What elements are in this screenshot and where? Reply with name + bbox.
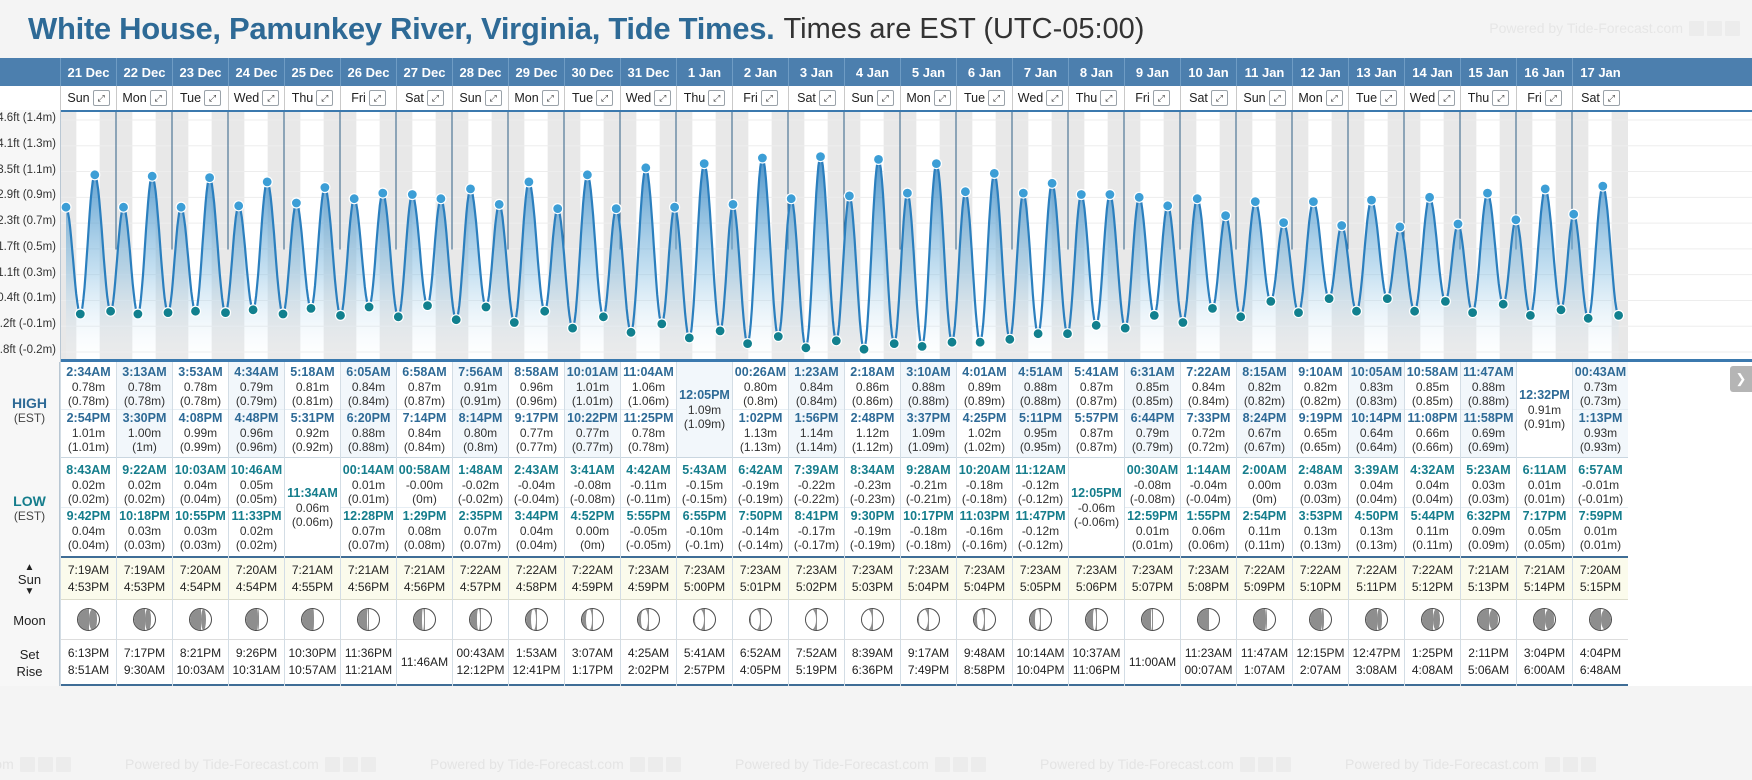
tide-time: 9:17PM: [509, 411, 564, 426]
moonrise-time: 8:58PM: [964, 662, 1005, 679]
day-column-19: 6:31AM0.85m(0.85m)6:44PM0.79m(0.79m)00:3…: [1124, 362, 1180, 686]
tide-time: 1:48AM: [453, 463, 508, 478]
expand-day-icon[interactable]: ⤢: [1269, 90, 1286, 106]
wave-icon: [935, 757, 950, 772]
tide-height-alt: (0.03m): [173, 538, 228, 552]
moonrise-time: 00:07AM: [1184, 662, 1232, 679]
powered-by-text: Powered by Tide-Forecast.com: [1489, 20, 1683, 36]
expand-day-icon[interactable]: ⤢: [988, 90, 1005, 106]
tide-time: 7:33PM: [1181, 411, 1236, 426]
moon-cell: [677, 600, 732, 640]
day-header-16: Tue⤢: [956, 86, 1012, 110]
tide-event: 12:05PM1.09m(1.09m): [677, 362, 732, 457]
tide-height-alt: (-0.04m): [1181, 492, 1236, 506]
tide-height-alt: (0.08m): [397, 538, 452, 552]
wave-icon: [1689, 21, 1704, 36]
moonrise-time: 11:46AM: [401, 654, 448, 671]
moon-cell: [1181, 600, 1236, 640]
low-tide-cell: 12:05PM-0.06m(-0.06m): [1069, 458, 1124, 558]
day-column-16: 4:01AM0.89m(0.89m)4:25PM1.02m(1.02m)10:2…: [956, 362, 1012, 686]
sun-cell: 7:23AM4:59PM: [621, 558, 676, 600]
date-header-24[interactable]: 14 Jan: [1404, 58, 1460, 86]
moonset-time: 11:36PM: [345, 645, 392, 662]
expand-day-icon[interactable]: ⤢: [1603, 90, 1620, 106]
moon-cell: [1573, 600, 1628, 640]
tide-time: 4:08PM: [173, 411, 228, 426]
refresh-icon: [1258, 757, 1273, 772]
moonrise-time: 6:36PM: [852, 662, 893, 679]
tide-event: 00:58AM-0.00m(0m): [397, 462, 452, 507]
moon-phase-icon: [1589, 608, 1612, 631]
tide-time: 4:51AM: [1013, 365, 1068, 380]
tide-height-alt: (0.67m): [1237, 440, 1292, 454]
moonset-time: 8:21PM: [180, 645, 221, 662]
day-name-label: Sun: [459, 91, 481, 105]
tide-curve-plot[interactable]: [60, 110, 1752, 362]
tide-event: 6:05AM0.84m(0.84m): [341, 364, 396, 409]
expand-day-icon[interactable]: ⤢: [542, 90, 559, 106]
tide-event: 2:00AM0.00m(0m): [1237, 462, 1292, 507]
page-title: White House, Pamunkey River, Virginia, T…: [28, 11, 774, 47]
moon-phase-icon: [245, 608, 268, 631]
day-header-15: Mon⤢: [900, 86, 956, 110]
date-header-1[interactable]: 22 Dec: [116, 58, 172, 86]
tide-height: 0.08m: [397, 524, 452, 538]
sun-cell: 7:21AM4:55PM: [285, 558, 340, 600]
moonrise-time: 4:05PM: [740, 662, 781, 679]
expand-day-icon[interactable]: ⤢: [262, 90, 279, 106]
moonrise-time: 2:02PM: [628, 662, 669, 679]
tide-event: 6:31AM0.85m(0.85m): [1125, 364, 1180, 409]
moon-cell: [1349, 600, 1404, 640]
sunrise-time: 7:23AM: [684, 562, 725, 579]
tide-height: 0.93m: [1573, 426, 1628, 440]
sun-cell: 7:23AM5:02PM: [789, 558, 844, 600]
tide-event: 10:20AM-0.18m(-0.18m): [957, 462, 1012, 507]
tide-height-alt: (0.79m): [1125, 440, 1180, 454]
moon-cell: [1013, 600, 1068, 640]
day-name-label: Mon: [1298, 91, 1322, 105]
tide-height-alt: (0.85m): [1125, 394, 1180, 408]
high-tide-cell: 2:18AM0.86m(0.86m)2:48PM1.12m(1.12m): [845, 362, 900, 458]
date-header-13[interactable]: 3 Jan: [788, 58, 844, 86]
expand-day-icon[interactable]: ⤢: [654, 90, 671, 106]
tide-height: 0.83m: [1349, 380, 1404, 394]
expand-day-icon[interactable]: ⤢: [485, 90, 502, 106]
day-header-21: Sun⤢: [1236, 86, 1292, 110]
tide-height: 0.13m: [1349, 524, 1404, 538]
tide-height: 0.01m: [1125, 524, 1180, 538]
day-name-label: Fri: [351, 91, 366, 105]
tide-event: 1:56PM1.14m(1.14m): [789, 409, 844, 455]
moon-phase-icon: [1365, 608, 1388, 631]
date-header-16[interactable]: 6 Jan: [956, 58, 1012, 86]
day-column-13: 1:23AM0.84m(0.84m)1:56PM1.14m(1.14m)7:39…: [788, 362, 844, 686]
tide-height: 0.87m: [1069, 426, 1124, 440]
date-header-10[interactable]: 31 Dec: [620, 58, 676, 86]
tide-height-alt: (-0.12m): [1013, 492, 1068, 506]
tide-event: 1:55PM0.06m(0.06m): [1181, 507, 1236, 553]
tide-time: 11:04AM: [621, 365, 676, 380]
tide-height: -0.16m: [957, 524, 1012, 538]
tide-time: 7:50PM: [733, 509, 788, 524]
expand-day-icon[interactable]: ⤢: [369, 90, 386, 106]
tide-event: 4:08PM0.99m(0.99m): [173, 409, 228, 455]
sunrise-time: 7:21AM: [348, 562, 389, 579]
sunrise-time: 7:22AM: [516, 562, 557, 579]
sunrise-time: 7:22AM: [1412, 562, 1453, 579]
tide-event: 2:54PM1.01m(1.01m): [61, 409, 116, 455]
moonset-time: 00:43AM: [456, 645, 504, 662]
date-header-25[interactable]: 15 Jan: [1460, 58, 1516, 86]
moonset-time: 11:23AM: [1185, 645, 1232, 662]
date-header-20[interactable]: 10 Jan: [1180, 58, 1236, 86]
sun-cell: 7:21AM4:56PM: [397, 558, 452, 600]
tide-time: 5:55PM: [621, 509, 676, 524]
tide-height: 0.11m: [1405, 524, 1460, 538]
moon-cell: [565, 600, 620, 640]
date-header-18[interactable]: 8 Jan: [1068, 58, 1124, 86]
y-axis-tick-8: -0.2ft (-0.1m): [0, 318, 56, 330]
moonset-label: Set: [20, 646, 40, 663]
tide-event: 4:48PM0.96m(0.96m): [229, 409, 284, 455]
moonset-time: 12:47PM: [1352, 645, 1400, 662]
moonset-time: 10:30PM: [288, 645, 336, 662]
tide-height-alt: (0.09m): [1461, 538, 1516, 552]
tide-height: 0.87m: [397, 380, 452, 394]
tide-time: 1:55PM: [1181, 509, 1236, 524]
date-header-23[interactable]: 13 Jan: [1348, 58, 1404, 86]
tide-height-alt: (0.84m): [341, 394, 396, 408]
tide-height-alt: (0.01m): [1573, 538, 1628, 552]
moonset-time: 12:15PM: [1296, 645, 1344, 662]
tide-height: 0.66m: [1405, 426, 1460, 440]
expand-day-icon[interactable]: ⤢: [596, 90, 613, 106]
expand-day-icon[interactable]: ⤢: [427, 90, 444, 106]
moon-phase-icon: [1253, 608, 1276, 631]
tide-height-alt: (-0.1m): [677, 538, 732, 552]
expand-day-icon[interactable]: ⤢: [93, 90, 110, 106]
date-header-6[interactable]: 27 Dec: [396, 58, 452, 86]
expand-day-icon[interactable]: ⤢: [1100, 90, 1117, 106]
day-header-22: Mon⤢: [1292, 86, 1348, 110]
sunset-time: 4:56PM: [404, 579, 445, 596]
expand-day-icon[interactable]: ⤢: [819, 90, 836, 106]
wave-icon: [20, 757, 35, 772]
moon-setrise-cell: 11:36PM11:21AM: [341, 640, 396, 686]
expand-day-icon[interactable]: ⤢: [1438, 90, 1455, 106]
moon-setrise-cell: 9:17AM7:49PM: [901, 640, 956, 686]
tide-height: -0.08m: [1125, 478, 1180, 492]
sunrise-time: 7:21AM: [292, 562, 333, 579]
expand-day-icon[interactable]: ⤢: [204, 90, 221, 106]
tide-height: 0.84m: [1181, 380, 1236, 394]
date-header-26[interactable]: 16 Jan: [1516, 58, 1572, 86]
tide-time: 8:15AM: [1237, 365, 1292, 380]
moon-phase-icon: [749, 608, 772, 631]
tide-time: 10:58AM: [1405, 365, 1460, 380]
tide-event: 3:41AM-0.08m(-0.08m): [565, 462, 620, 507]
date-header-2[interactable]: 23 Dec: [172, 58, 228, 86]
tide-event: 11:03PM-0.16m(-0.16m): [957, 507, 1012, 553]
tide-time: 11:34AM: [285, 486, 340, 501]
date-header-row: 21 Dec22 Dec23 Dec24 Dec25 Dec26 Dec27 D…: [0, 58, 1752, 86]
moonrise-time: 10:57AM: [288, 662, 336, 679]
tide-time: 5:23AM: [1461, 463, 1516, 478]
sunrise-time: 7:23AM: [1020, 562, 1061, 579]
day-name-label: Thu: [684, 91, 706, 105]
tide-time: 11:25PM: [621, 411, 676, 426]
tide-time: 11:58PM: [1461, 411, 1516, 426]
low-tide-cell: 1:14AM-0.04m(-0.04m)1:55PM0.06m(0.06m): [1181, 458, 1236, 558]
tide-height: -0.21m: [901, 478, 956, 492]
moonset-time: 5:41AM: [684, 645, 725, 662]
tide-time: 1:29PM: [397, 509, 452, 524]
tide-height: -0.12m: [1013, 524, 1068, 538]
sunrise-time: 7:23AM: [1132, 562, 1173, 579]
tide-height-alt: (1.01m): [61, 440, 116, 454]
tide-event: 7:17PM0.05m(0.05m): [1517, 507, 1572, 553]
footer-watermark-text: Powered by Tide-Forecast.com: [125, 756, 319, 772]
day-name-label: Fri: [743, 91, 758, 105]
tide-height: 0.03m: [1461, 478, 1516, 492]
tide-height-alt: (0.85m): [1405, 394, 1460, 408]
tide-height-alt: (0.84m): [397, 440, 452, 454]
tide-height-alt: (0.07m): [453, 538, 508, 552]
moonrise-time: 12:41PM: [512, 662, 560, 679]
tide-height: 0.03m: [173, 524, 228, 538]
tide-event: 2:34AM0.78m(0.78m): [61, 364, 116, 409]
tide-time: 10:03AM: [173, 463, 228, 478]
moon-phase-icon: [1085, 608, 1108, 631]
date-header-3[interactable]: 24 Dec: [228, 58, 284, 86]
tide-height: -0.10m: [677, 524, 732, 538]
date-header-12[interactable]: 2 Jan: [732, 58, 788, 86]
tide-height: 0.80m: [453, 426, 508, 440]
tide-time: 8:24PM: [1237, 411, 1292, 426]
expand-day-icon[interactable]: ⤢: [1211, 90, 1228, 106]
tide-event: 00:43AM0.73m(0.73m): [1573, 364, 1628, 409]
tide-height-alt: (1.13m): [733, 440, 788, 454]
tide-event: 5:55PM-0.05m(-0.05m): [621, 507, 676, 553]
tide-height-alt: (-0.15m): [677, 492, 732, 506]
tide-event: 5:57PM0.87m(0.87m): [1069, 409, 1124, 455]
tide-event: 9:10AM0.82m(0.82m): [1293, 364, 1348, 409]
tide-height-alt: (0.06m): [285, 515, 340, 529]
tide-height: -0.22m: [789, 478, 844, 492]
refresh-icon: [1563, 757, 1578, 772]
high-tide-cell: 2:34AM0.78m(0.78m)2:54PM1.01m(1.01m): [61, 362, 116, 458]
day-header-4: Thu⤢: [284, 86, 340, 110]
tide-chart-page: White House, Pamunkey River, Virginia, T…: [0, 0, 1752, 780]
tide-event: 3:37PM1.09m(1.09m): [901, 409, 956, 455]
day-name-label: Tue: [964, 91, 985, 105]
low-tide-cell: 2:48AM0.03m(0.03m)3:53PM0.13m(0.13m): [1293, 458, 1348, 558]
day-name-label: Tue: [180, 91, 201, 105]
date-header-4[interactable]: 25 Dec: [284, 58, 340, 86]
expand-day-icon[interactable]: ⤢: [877, 90, 894, 106]
date-header-15[interactable]: 5 Jan: [900, 58, 956, 86]
date-header-27[interactable]: 17 Jan: [1572, 58, 1628, 86]
expand-day-icon[interactable]: ⤢: [761, 90, 778, 106]
tide-event: 10:17PM-0.18m(-0.18m): [901, 507, 956, 553]
y-axis-tick-6: 1.1ft (0.3m): [0, 267, 56, 279]
tide-time: 1:14AM: [1181, 463, 1236, 478]
tide-event: 11:12AM-0.12m(-0.12m): [1013, 462, 1068, 507]
tide-time: 10:22PM: [565, 411, 620, 426]
tide-height: 0.91m: [453, 380, 508, 394]
tide-time: 7:56AM: [453, 365, 508, 380]
tide-height-alt: (-0.22m): [789, 492, 844, 506]
tide-height: -0.02m: [453, 478, 508, 492]
moonset-time: 1:53AM: [516, 645, 557, 662]
scroll-right-button[interactable]: ❯: [1730, 366, 1752, 392]
tide-event: 7:50PM-0.14m(-0.14m): [733, 507, 788, 553]
moon-cell: [397, 600, 452, 640]
moon-phase-icon: [469, 608, 492, 631]
date-header-17[interactable]: 7 Jan: [1012, 58, 1068, 86]
refresh-icon: [38, 757, 53, 772]
date-header-21[interactable]: 11 Jan: [1236, 58, 1292, 86]
tide-event: 8:14PM0.80m(0.8m): [453, 409, 508, 455]
moon-cell: [1125, 600, 1180, 640]
moon-phase-icon: [1421, 608, 1444, 631]
low-tide-cell: 1:48AM-0.02m(-0.02m)2:35PM0.07m(0.07m): [453, 458, 508, 558]
high-tide-cell: 5:41AM0.87m(0.87m)5:57PM0.87m(0.87m): [1069, 362, 1124, 458]
moon-setrise-cell: 9:48AM8:58PM: [957, 640, 1012, 686]
refresh-icon: [648, 757, 663, 772]
tide-event: 00:26AM0.80m(0.8m): [733, 364, 788, 409]
moonset-time: 7:52AM: [796, 645, 837, 662]
high-tide-cell: 10:58AM0.85m(0.85m)11:08PM0.66m(0.66m): [1405, 362, 1460, 458]
tide-height-alt: (0.04m): [61, 538, 116, 552]
day-name-label: Fri: [1135, 91, 1150, 105]
tide-height-alt: (0.04m): [509, 538, 564, 552]
sunset-time: 5:14PM: [1524, 579, 1565, 596]
moonrise-time: 6:48AM: [1580, 662, 1621, 679]
tide-time: 5:57PM: [1069, 411, 1124, 426]
tide-height: 0.05m: [229, 478, 284, 492]
day-name-label: Sun: [67, 91, 89, 105]
footer-watermark-text: Powered by Tide-Forecast.com: [735, 756, 929, 772]
day-header-10: Wed⤢: [620, 86, 676, 110]
sunset-time: 4:58PM: [516, 579, 557, 596]
tide-height-alt: (0.92m): [285, 440, 340, 454]
date-header-7[interactable]: 28 Dec: [452, 58, 508, 86]
tide-height: 0.09m: [1461, 524, 1516, 538]
tide-event: 4:01AM0.89m(0.89m): [957, 364, 1012, 409]
expand-day-icon[interactable]: ⤢: [1380, 90, 1397, 106]
tide-height: -0.14m: [733, 524, 788, 538]
tide-height: 1.01m: [61, 426, 116, 440]
date-header-14[interactable]: 4 Jan: [844, 58, 900, 86]
tide-time: 5:43AM: [677, 463, 732, 478]
tide-event: 11:25PM0.78m(0.78m): [621, 409, 676, 455]
tide-height-alt: (0.99m): [173, 440, 228, 454]
tide-event: 11:47PM-0.12m(-0.12m): [1013, 507, 1068, 553]
day-column-17: 4:51AM0.88m(0.88m)5:11PM0.95m(0.95m)11:1…: [1012, 362, 1068, 686]
expand-day-icon[interactable]: ⤢: [1153, 90, 1170, 106]
day-header-7: Sun⤢: [452, 86, 508, 110]
tide-height-alt: (0.8m): [453, 440, 508, 454]
expand-day-icon[interactable]: ⤢: [316, 90, 333, 106]
tide-event: 11:08PM0.66m(0.66m): [1405, 409, 1460, 455]
sunset-time: 5:02PM: [796, 579, 837, 596]
date-header-5[interactable]: 26 Dec: [340, 58, 396, 86]
moon-phase-icon: [301, 608, 324, 631]
day-header-25: Thu⤢: [1460, 86, 1516, 110]
date-header-19[interactable]: 9 Jan: [1124, 58, 1180, 86]
day-column-5: 6:05AM0.84m(0.84m)6:20PM0.88m(0.88m)00:1…: [340, 362, 396, 686]
tide-height: 0.99m: [173, 426, 228, 440]
day-column-20: 7:22AM0.84m(0.84m)7:33PM0.72m(0.72m)1:14…: [1180, 362, 1236, 686]
day-name-label: Mon: [906, 91, 930, 105]
date-header-0[interactable]: 21 Dec: [60, 58, 116, 86]
date-header-11[interactable]: 1 Jan: [676, 58, 732, 86]
tide-event: 11:04AM1.06m(1.06m): [621, 364, 676, 409]
tide-time: 00:43AM: [1573, 365, 1628, 380]
tide-height: -0.11m: [621, 478, 676, 492]
date-header-8[interactable]: 29 Dec: [508, 58, 564, 86]
moon-phase-icon: [693, 608, 716, 631]
expand-day-icon[interactable]: ⤢: [934, 90, 951, 106]
tide-event: 3:10AM0.88m(0.88m): [901, 364, 956, 409]
low-tide-cell: 2:00AM0.00m(0m)2:54PM0.11m(0.11m): [1237, 458, 1292, 558]
sun-cell: 7:23AM5:07PM: [1125, 558, 1180, 600]
tide-height-alt: (0.82m): [1293, 394, 1348, 408]
tide-time: 4:34AM: [229, 365, 284, 380]
date-header-22[interactable]: 12 Jan: [1292, 58, 1348, 86]
row-label-low: LOW (EST): [0, 458, 59, 558]
sunset-time: 5:04PM: [908, 579, 949, 596]
day-header-6: Sat⤢: [396, 86, 452, 110]
sunrise-time: 7:23AM: [1188, 562, 1229, 579]
tide-event: 7:33PM0.72m(0.72m): [1181, 409, 1236, 455]
tide-time: 12:59PM: [1125, 509, 1180, 524]
expand-day-icon[interactable]: ⤢: [708, 90, 725, 106]
sun-cell: 7:23AM5:00PM: [677, 558, 732, 600]
day-column-3: 4:34AM0.79m(0.79m)4:48PM0.96m(0.96m)10:4…: [228, 362, 284, 686]
expand-day-icon[interactable]: ⤢: [1492, 90, 1509, 106]
date-header-9[interactable]: 30 Dec: [564, 58, 620, 86]
tide-time: 10:14PM: [1349, 411, 1404, 426]
tide-event: 5:31PM0.92m(0.92m): [285, 409, 340, 455]
day-header-0: Sun⤢: [60, 86, 116, 110]
tide-height-alt: (0.84m): [1181, 394, 1236, 408]
expand-day-icon[interactable]: ⤢: [1326, 90, 1343, 106]
tide-height-alt: (0.86m): [845, 394, 900, 408]
tide-height-alt: (0.02m): [61, 492, 116, 506]
moon-phase-icon: [1197, 608, 1220, 631]
moon-phase-icon: [525, 608, 548, 631]
tide-height-alt: (-0.11m): [621, 492, 676, 506]
expand-day-icon[interactable]: ⤢: [1046, 90, 1063, 106]
tide-event: 00:14AM0.01m(0.01m): [341, 462, 396, 507]
moon-cell: [173, 600, 228, 640]
sunrise-time: 7:23AM: [908, 562, 949, 579]
low-tide-cell: 9:22AM0.02m(0.02m)10:18PM0.03m(0.03m): [117, 458, 172, 558]
tide-event: 4:51AM0.88m(0.88m): [1013, 364, 1068, 409]
moonset-time: 10:37AM: [1072, 645, 1120, 662]
sun-cell: 7:22AM4:59PM: [565, 558, 620, 600]
tide-time: 4:42AM: [621, 463, 676, 478]
sunrise-arrow-icon: ▲: [25, 563, 35, 572]
expand-day-icon[interactable]: ⤢: [150, 90, 167, 106]
sunrise-time: 7:23AM: [1076, 562, 1117, 579]
expand-day-icon[interactable]: ⤢: [1545, 90, 1562, 106]
sun-cell: 7:22AM5:11PM: [1349, 558, 1404, 600]
day-column-27: 00:43AM0.73m(0.73m)1:13PM0.93m(0.93m)6:5…: [1572, 362, 1628, 686]
